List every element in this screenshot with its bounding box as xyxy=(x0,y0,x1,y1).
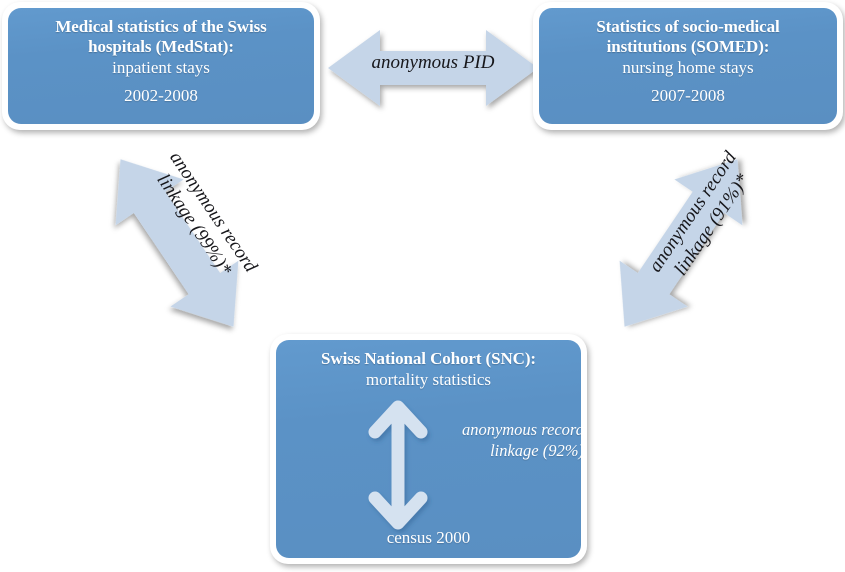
box-somed-title-line1: Statistics of socio-medical xyxy=(596,17,779,36)
box-medstat-line1: inpatient stays xyxy=(112,57,210,79)
connector-label-right: anonymous record linkage (91%)* xyxy=(631,127,775,310)
diagram-canvas: anonymous PID anonymous record linkage (… xyxy=(0,0,845,572)
box-somed-line1: nursing home stays xyxy=(622,57,753,79)
box-somed-body: Statistics of socio-medical institutions… xyxy=(539,8,837,124)
box-medstat-body: Medical statistics of the Swiss hospital… xyxy=(8,8,314,124)
box-somed-line2: 2007-2008 xyxy=(651,85,725,107)
box-snc-bottom-line: census 2000 xyxy=(276,528,581,548)
box-medstat-title-line2: hospitals (MedStat): xyxy=(88,37,234,56)
box-snc-subtitle: mortality statistics xyxy=(366,369,491,391)
box-somed-title: Statistics of socio-medical institutions… xyxy=(596,17,779,57)
connector-label-top: anonymous PID xyxy=(352,52,514,74)
box-somed-title-line2: institutions (SOMED): xyxy=(607,37,770,56)
box-snc[interactable]: Swiss National Cohort (SNC): mortality s… xyxy=(270,334,587,564)
box-medstat-title-line1: Medical statistics of the Swiss xyxy=(55,17,266,36)
box-snc-inner-label-line1: anonymous record xyxy=(462,420,581,439)
connector-label-left: anonymous record linkage (99%)* xyxy=(131,127,275,310)
box-somed[interactable]: Statistics of socio-medical institutions… xyxy=(533,2,843,130)
box-medstat-line2: 2002-2008 xyxy=(124,85,198,107)
box-medstat[interactable]: Medical statistics of the Swiss hospital… xyxy=(2,2,320,130)
box-snc-body: Swiss National Cohort (SNC): mortality s… xyxy=(276,340,581,558)
box-snc-inner-label-line2: linkage (92%) xyxy=(490,441,581,460)
vertical-double-arrow-icon xyxy=(362,396,434,534)
box-medstat-title: Medical statistics of the Swiss hospital… xyxy=(55,17,266,57)
box-snc-inner-label: anonymous record linkage (92%) xyxy=(426,420,581,461)
box-snc-title: Swiss National Cohort (SNC): xyxy=(321,349,536,369)
